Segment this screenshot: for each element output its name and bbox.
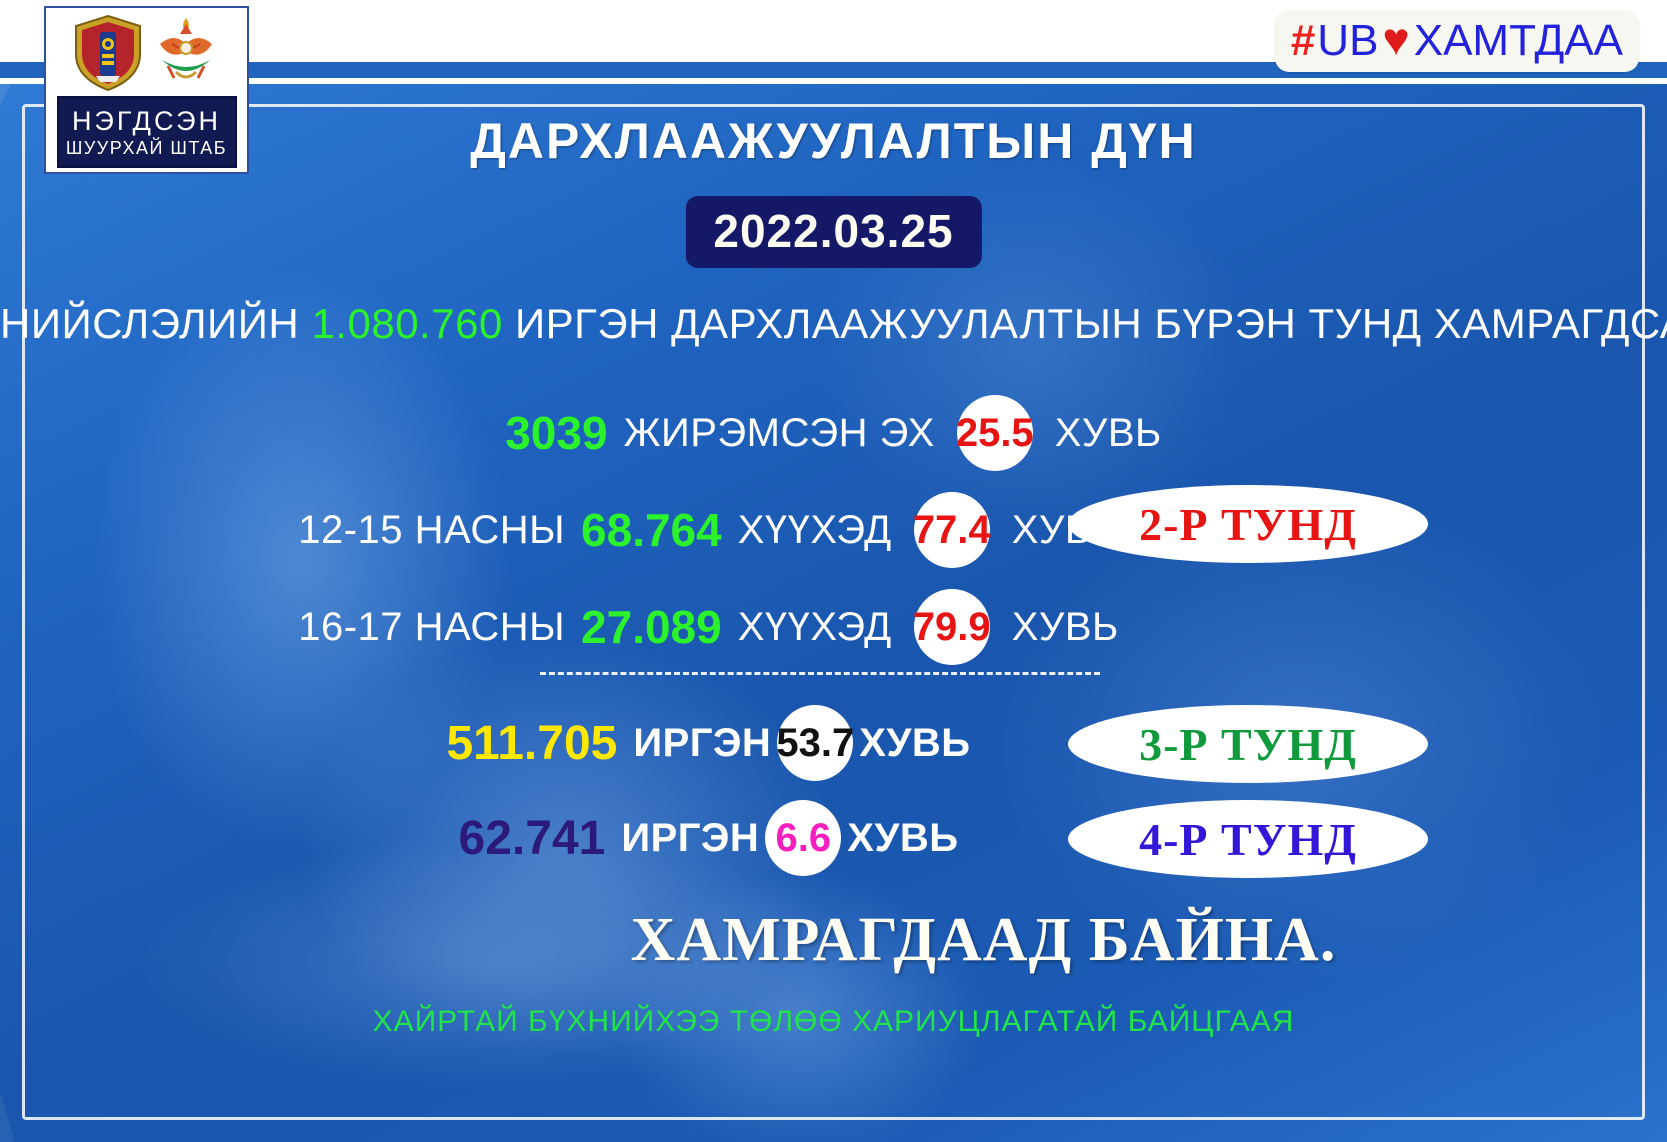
infographic-poster: НЭГДСЭН ШУУРХАЙ ШТАБ # UB ♥ ХАМТДАА ДАРХ…: [0, 0, 1667, 1142]
subtitle-suffix: ИРГЭН ДАРХЛААЖУУЛАЛТЫН БҮРЭН ТУНД ХАМРАГ…: [515, 300, 1667, 347]
summary-headline: ХАМРАГДААД БАЙНА.: [0, 905, 1667, 976]
stat-value: 511.705: [446, 716, 617, 771]
dose-badge-4: 4-Р ТУНД: [1068, 800, 1428, 878]
stat-percent-suffix: ХУВЬ: [1012, 605, 1119, 650]
stat-percent-suffix: ХУВЬ: [847, 816, 958, 861]
stat-label: ХҮҮХЭД: [738, 508, 892, 553]
stat-value: 68.764: [581, 503, 722, 557]
stat-label: ЖИРЭМСЭН ЭХ: [624, 411, 935, 456]
footer-slogan: ХАЙРТАЙ БҮХНИЙХЭЭ ТӨЛӨӨ ХАРИУЦЛАГАТАЙ БА…: [0, 1005, 1667, 1039]
stat-label: ИРГЭН: [633, 721, 771, 766]
heart-icon: ♥: [1382, 16, 1409, 62]
stat-value: 62.741: [459, 811, 606, 866]
stat-label: ИРГЭН: [621, 816, 759, 861]
subtitle-total-number: 1.080.760: [311, 300, 502, 347]
stat-value: 27.089: [581, 600, 722, 654]
logo-nameplate: НЭГДСЭН ШУУРХАЙ ШТАБ: [57, 96, 237, 168]
stat-percent-badge: 79.9: [914, 589, 990, 665]
logo-emblems: [46, 8, 247, 94]
subtitle-prefix: НИЙСЛЭЛИЙН: [0, 300, 299, 347]
stat-percent-suffix: ХУВЬ: [859, 721, 970, 766]
dose-badge-2: 2-Р ТУНД: [1068, 485, 1428, 563]
organization-logo: НЭГДСЭН ШУУРХАЙ ШТАБ: [44, 6, 249, 174]
stat-prefix: 16-17 НАСНЫ: [298, 605, 565, 650]
logo-line-1: НЭГДСЭН: [72, 108, 221, 135]
hash-symbol: #: [1291, 19, 1315, 63]
hashtag-ub-text: UB: [1317, 19, 1378, 63]
hashtag-rest-text: ХАМТДАА: [1414, 19, 1623, 63]
page-title: ДАРХЛААЖУУЛАЛТЫН ДҮН: [0, 112, 1667, 170]
stat-label: ХҮҮХЭД: [738, 605, 892, 650]
stat-row-pregnant-mothers: 3039 ЖИРЭМСЭН ЭХ 25.5 ХУВЬ: [0, 395, 1667, 471]
stat-value: 3039: [505, 406, 607, 460]
stat-percent-badge: 53.7: [777, 705, 853, 781]
section-divider: [540, 672, 1100, 675]
state-coat-of-arms-icon: [150, 14, 222, 92]
stat-percent-badge: 77.4: [914, 492, 990, 568]
police-emblem-icon: [72, 14, 144, 92]
stat-percent-suffix: ХУВЬ: [1055, 411, 1162, 456]
date-badge: 2022.03.25: [685, 196, 981, 268]
top-white-stripe: [0, 78, 1667, 84]
stat-percent-badge: 25.5: [957, 395, 1033, 471]
stat-percent-badge: 6.6: [765, 800, 841, 876]
stat-row-children-16-17: 16-17 НАСНЫ 27.089 ХҮҮХЭД 79.9 ХУВЬ: [0, 589, 1667, 665]
logo-line-2: ШУУРХАЙ ШТАБ: [66, 139, 227, 157]
subtitle-line: НИЙСЛЭЛИЙН 1.080.760 ИРГЭН ДАРХЛААЖУУЛАЛ…: [0, 300, 1667, 348]
dose-badge-3: 3-Р ТУНД: [1068, 705, 1428, 783]
hashtag-badge: # UB ♥ ХАМТДАА: [1275, 10, 1639, 72]
stat-prefix: 12-15 НАСНЫ: [298, 508, 565, 553]
